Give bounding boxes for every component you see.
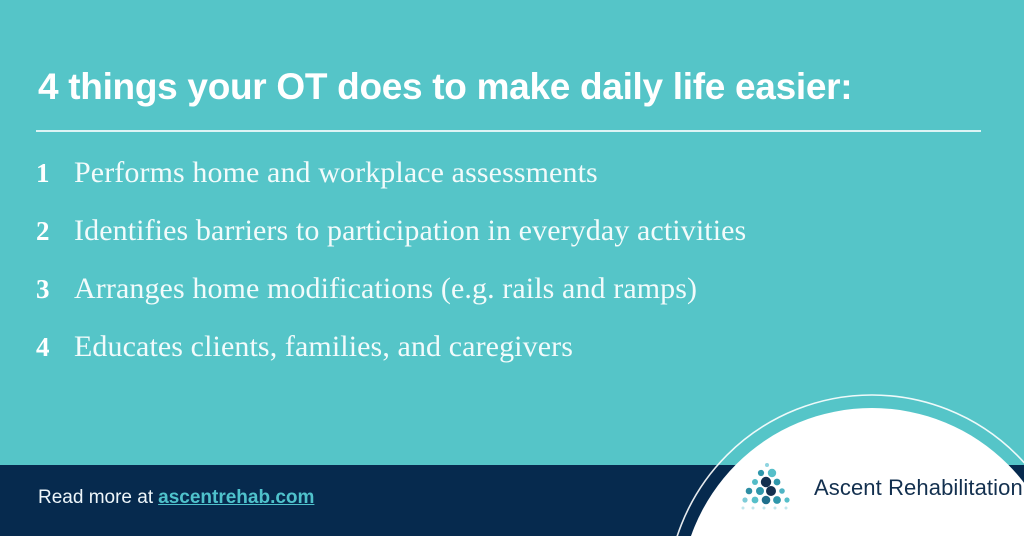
list-item: 4 Educates clients, families, and caregi… xyxy=(36,332,996,390)
social-graphic-card: 4 things your OT does to make daily life… xyxy=(0,0,1024,536)
title-divider xyxy=(36,130,981,132)
list-item: 1 Performs home and workplace assessment… xyxy=(36,158,996,216)
footer-call-to-action: Read more atascentrehab.com xyxy=(38,487,314,509)
list-item-label: Educates clients, families, and caregive… xyxy=(74,332,573,362)
list-item-label: Arranges home modifications (e.g. rails … xyxy=(74,274,697,304)
list-item-label: Identifies barriers to participation in … xyxy=(74,216,746,246)
list-item-number: 1 xyxy=(36,160,74,187)
logo-lockup: Ascent Rehabilitation xyxy=(736,457,1023,519)
list-item-label: Performs home and workplace assessments xyxy=(74,158,598,188)
list-item-number: 3 xyxy=(36,276,74,303)
benefit-list: 1 Performs home and workplace assessment… xyxy=(36,158,996,390)
list-item-number: 4 xyxy=(36,334,74,361)
website-link[interactable]: ascentrehab.com xyxy=(158,487,314,508)
footer-note-prefix: Read more at xyxy=(38,487,153,508)
ascent-dot-triangle-icon xyxy=(736,457,798,519)
list-item: 3 Arranges home modifications (e.g. rail… xyxy=(36,274,996,332)
list-item: 2 Identifies barriers to participation i… xyxy=(36,216,996,274)
page-title: 4 things your OT does to make daily life… xyxy=(38,66,988,107)
logo-wordmark: Ascent Rehabilitation xyxy=(814,475,1023,501)
list-item-number: 2 xyxy=(36,218,74,245)
